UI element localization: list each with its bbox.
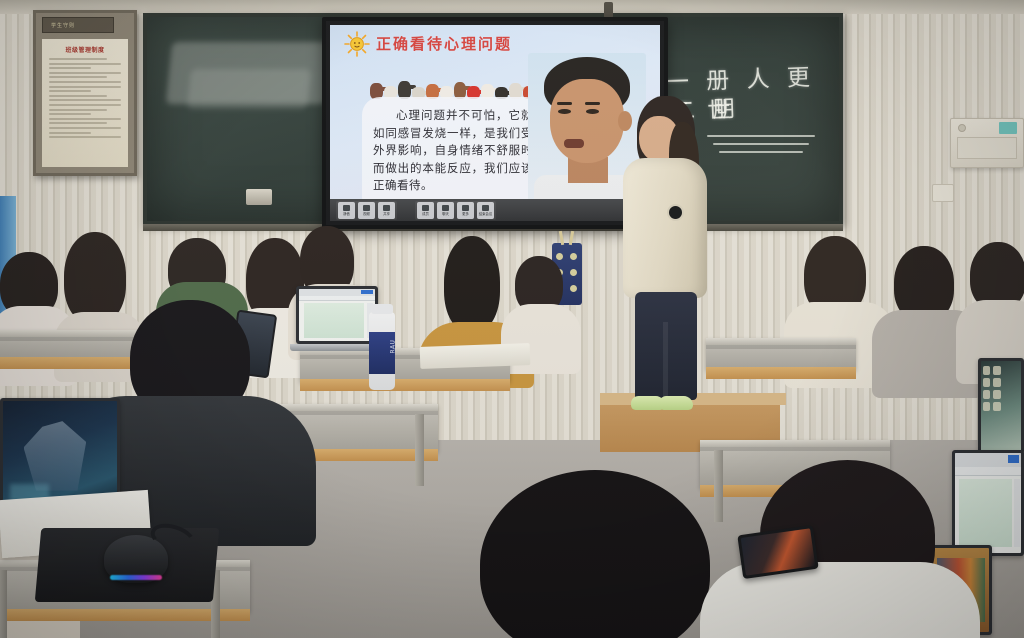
poster-body: 班级管理制度 xyxy=(42,39,128,167)
poster-header-label: 学生守则 xyxy=(43,18,113,29)
presentation-slide: 正确看待心理问题 心理问题并不可怕，它就如同感冒发烧一样，是我们受外界影响，自身… xyxy=(330,25,660,221)
board-magnet-clip xyxy=(246,189,272,205)
student-far-right-edge xyxy=(956,242,1024,372)
wall-poster: 学生守则 班级管理制度 xyxy=(33,10,137,176)
phone-screen[interactable] xyxy=(741,528,816,575)
desk-row-back-right xyxy=(706,338,856,370)
light-switch[interactable] xyxy=(932,184,954,202)
poster-header: 学生守则 xyxy=(42,17,114,33)
meeting-toolbar[interactable]: 静音 视频 共享 成员 聊天 更多 结束会议 xyxy=(330,199,660,221)
chalk-erased-area-2 xyxy=(187,69,311,109)
poster-title: 班级管理制度 xyxy=(49,45,121,54)
slide-title: 正确看待心理问题 xyxy=(376,33,512,54)
bottle-label: RAU xyxy=(368,334,397,360)
panel-window xyxy=(957,137,1017,159)
student-foreground-center xyxy=(460,470,720,638)
sun-icon xyxy=(344,31,370,57)
camera-icon[interactable]: 视频 xyxy=(358,202,375,219)
laptop-right-upper[interactable] xyxy=(978,358,1024,454)
standing-student-presenter xyxy=(619,96,711,416)
share-icon[interactable]: 共享 xyxy=(378,202,395,219)
rgb-gaming-mouse[interactable] xyxy=(104,535,168,583)
laptop-screen-desktop[interactable] xyxy=(981,361,1021,451)
ceiling-camera-icon xyxy=(604,2,613,18)
wall-control-panel[interactable] xyxy=(950,118,1024,168)
panel-indicator-icon xyxy=(958,124,966,132)
more-icon[interactable]: 更多 xyxy=(457,202,474,219)
laptop-screen-document[interactable] xyxy=(299,289,375,341)
slide-body-text: 心理问题并不可怕，它就如同感冒发烧一样，是我们受外界影响，自身情绪不舒服时而做出… xyxy=(362,97,544,215)
open-notebook xyxy=(420,343,531,369)
mouse-rgb-light xyxy=(110,575,162,580)
toolbar-group-right[interactable]: 成员 聊天 更多 结束会议 xyxy=(415,201,496,220)
wall-display[interactable]: 正确看待心理问题 心理问题并不可怕，它就如同感冒发烧一样，是我们受外界影响，自身… xyxy=(322,17,668,229)
water-bottle: RAU xyxy=(369,312,395,390)
running-dogs-illustration xyxy=(370,69,550,99)
ceiling-shadow xyxy=(0,0,1024,14)
participants-icon[interactable]: 成员 xyxy=(417,202,434,219)
toolbar-group-left[interactable]: 静音 视频 共享 xyxy=(336,201,397,220)
jacket-logo-badge xyxy=(667,204,684,221)
panel-label-sticker xyxy=(999,122,1017,134)
laptop-mid-left[interactable] xyxy=(296,286,378,344)
chat-icon[interactable]: 聊天 xyxy=(437,202,454,219)
mic-icon[interactable]: 静音 xyxy=(338,202,355,219)
classroom-scene: 学生守则 班级管理制度 一 册 人 更 三 世 二 朋 xyxy=(0,0,1024,638)
leave-meeting-icon[interactable]: 结束会议 xyxy=(477,202,494,219)
